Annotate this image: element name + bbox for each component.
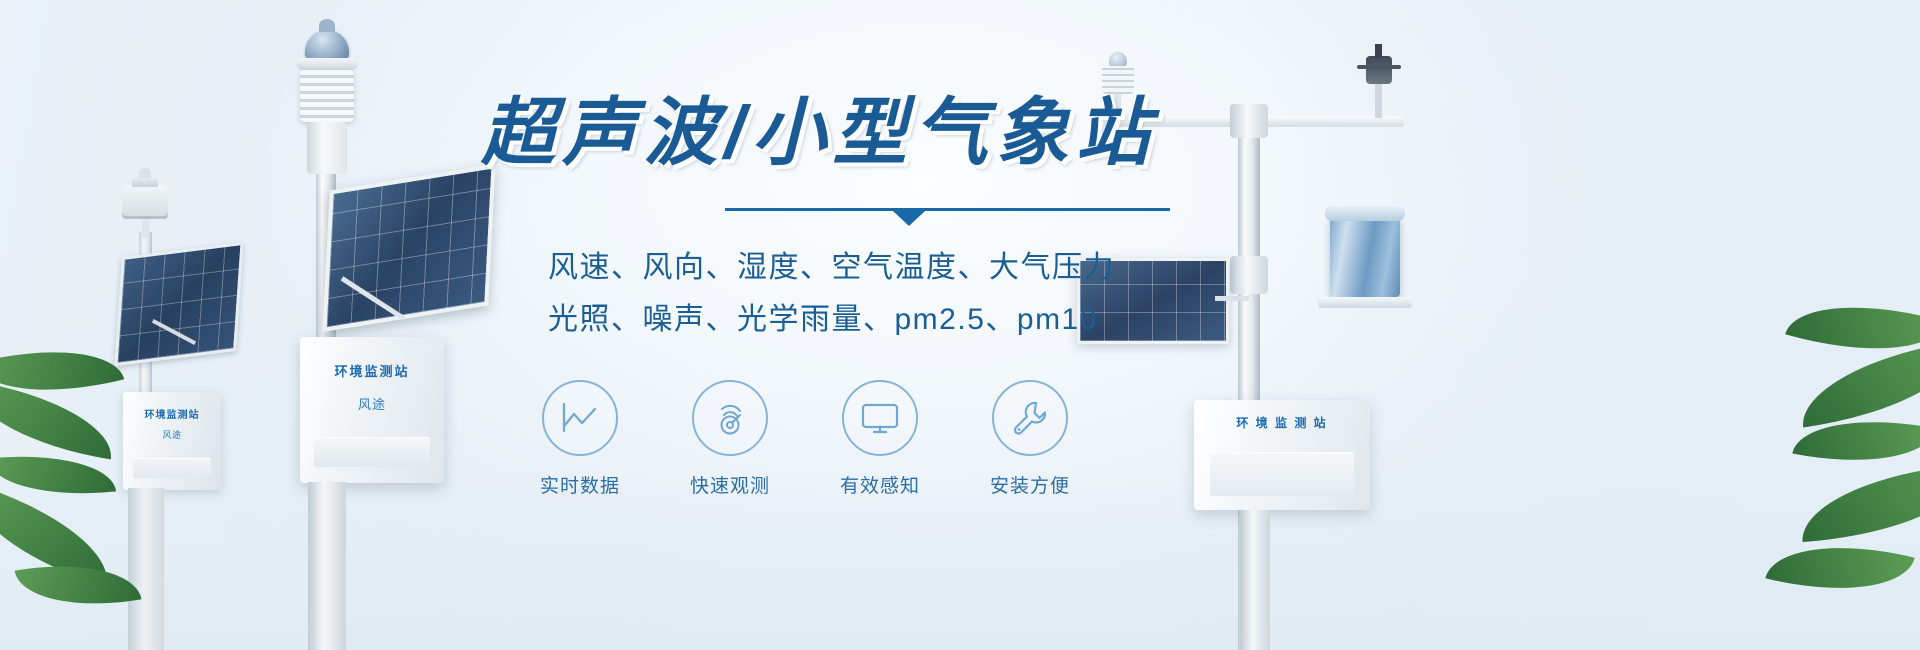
mast-collar-upper	[1230, 104, 1268, 138]
subtitle-block: 风速、风向、湿度、空气温度、大气压力 光照、噪声、光学雨量、pm2.5、pm10	[430, 242, 1190, 346]
title-divider	[725, 204, 1170, 222]
sensor-body	[307, 122, 347, 174]
control-enclosure: 环境监测站 风途	[300, 337, 444, 483]
triangle-down-icon	[893, 211, 925, 226]
product-banner: 环境监测站 风途 环境监测站 风途 环 境 监 测 站	[0, 0, 1920, 650]
page-title: 超声波/小型气象站	[430, 96, 1190, 170]
feature-label: 快速观测	[684, 471, 776, 498]
feature-item-effective-sensing[interactable]: 有效感知	[834, 380, 926, 498]
sensor-head-icon	[122, 185, 168, 219]
sensor-cap	[296, 58, 358, 70]
mast-base	[128, 488, 164, 650]
control-enclosure: 环境监测站 风途	[123, 392, 221, 490]
feature-label: 有效感知	[834, 471, 926, 498]
brand-logo-text: 风途	[300, 394, 444, 413]
feature-label: 实时数据	[534, 471, 626, 498]
mast-base	[1240, 510, 1270, 650]
divider-line	[725, 208, 1170, 211]
feature-list: 实时数据 快速观测	[430, 380, 1190, 498]
feature-item-easy-installation[interactable]: 安装方便	[984, 380, 1076, 498]
subtitle-line-2: 光照、噪声、光学雨量、pm2.5、pm10	[548, 294, 1190, 346]
enclosure-label: 环 境 监 测 站	[1194, 414, 1370, 431]
solar-panel	[114, 242, 243, 366]
enclosure-label: 环境监测站	[300, 361, 444, 380]
wrench-icon	[1010, 398, 1050, 438]
ultrasonic-sensor-icon	[1102, 64, 1134, 94]
feature-icon-circle	[992, 380, 1068, 456]
radar-signal-icon	[710, 399, 750, 437]
control-enclosure: 环 境 监 测 站	[1194, 400, 1370, 510]
enclosure-label: 环境监测站	[123, 406, 221, 421]
brand-logo-text: 风途	[123, 428, 221, 441]
radiation-shield-plates	[300, 70, 354, 122]
rain-gauge	[1330, 215, 1400, 297]
feature-icon-circle	[692, 380, 768, 456]
sensor-stem	[142, 216, 149, 238]
subtitle-line-1: 风速、风向、湿度、空气温度、大气压力	[548, 242, 1190, 294]
feature-label: 安装方便	[984, 471, 1076, 498]
banner-content: 超声波/小型气象站 风速、风向、湿度、空气温度、大气压力 光照、噪声、光学雨量、…	[430, 96, 1190, 516]
mast-base	[308, 482, 346, 650]
wind-vane-stem	[1375, 82, 1382, 118]
wind-vane-icon	[1366, 56, 1392, 84]
monitor-screen-icon	[859, 401, 901, 435]
line-chart-icon	[560, 401, 600, 435]
feature-item-realtime-data[interactable]: 实时数据	[534, 380, 626, 498]
feature-icon-circle	[842, 380, 918, 456]
feature-icon-circle	[542, 380, 618, 456]
mast-collar-lower	[1230, 256, 1268, 294]
panel-brace	[1215, 296, 1249, 301]
feature-item-fast-observation[interactable]: 快速观测	[684, 380, 776, 498]
sensor-shelf	[1318, 297, 1412, 308]
